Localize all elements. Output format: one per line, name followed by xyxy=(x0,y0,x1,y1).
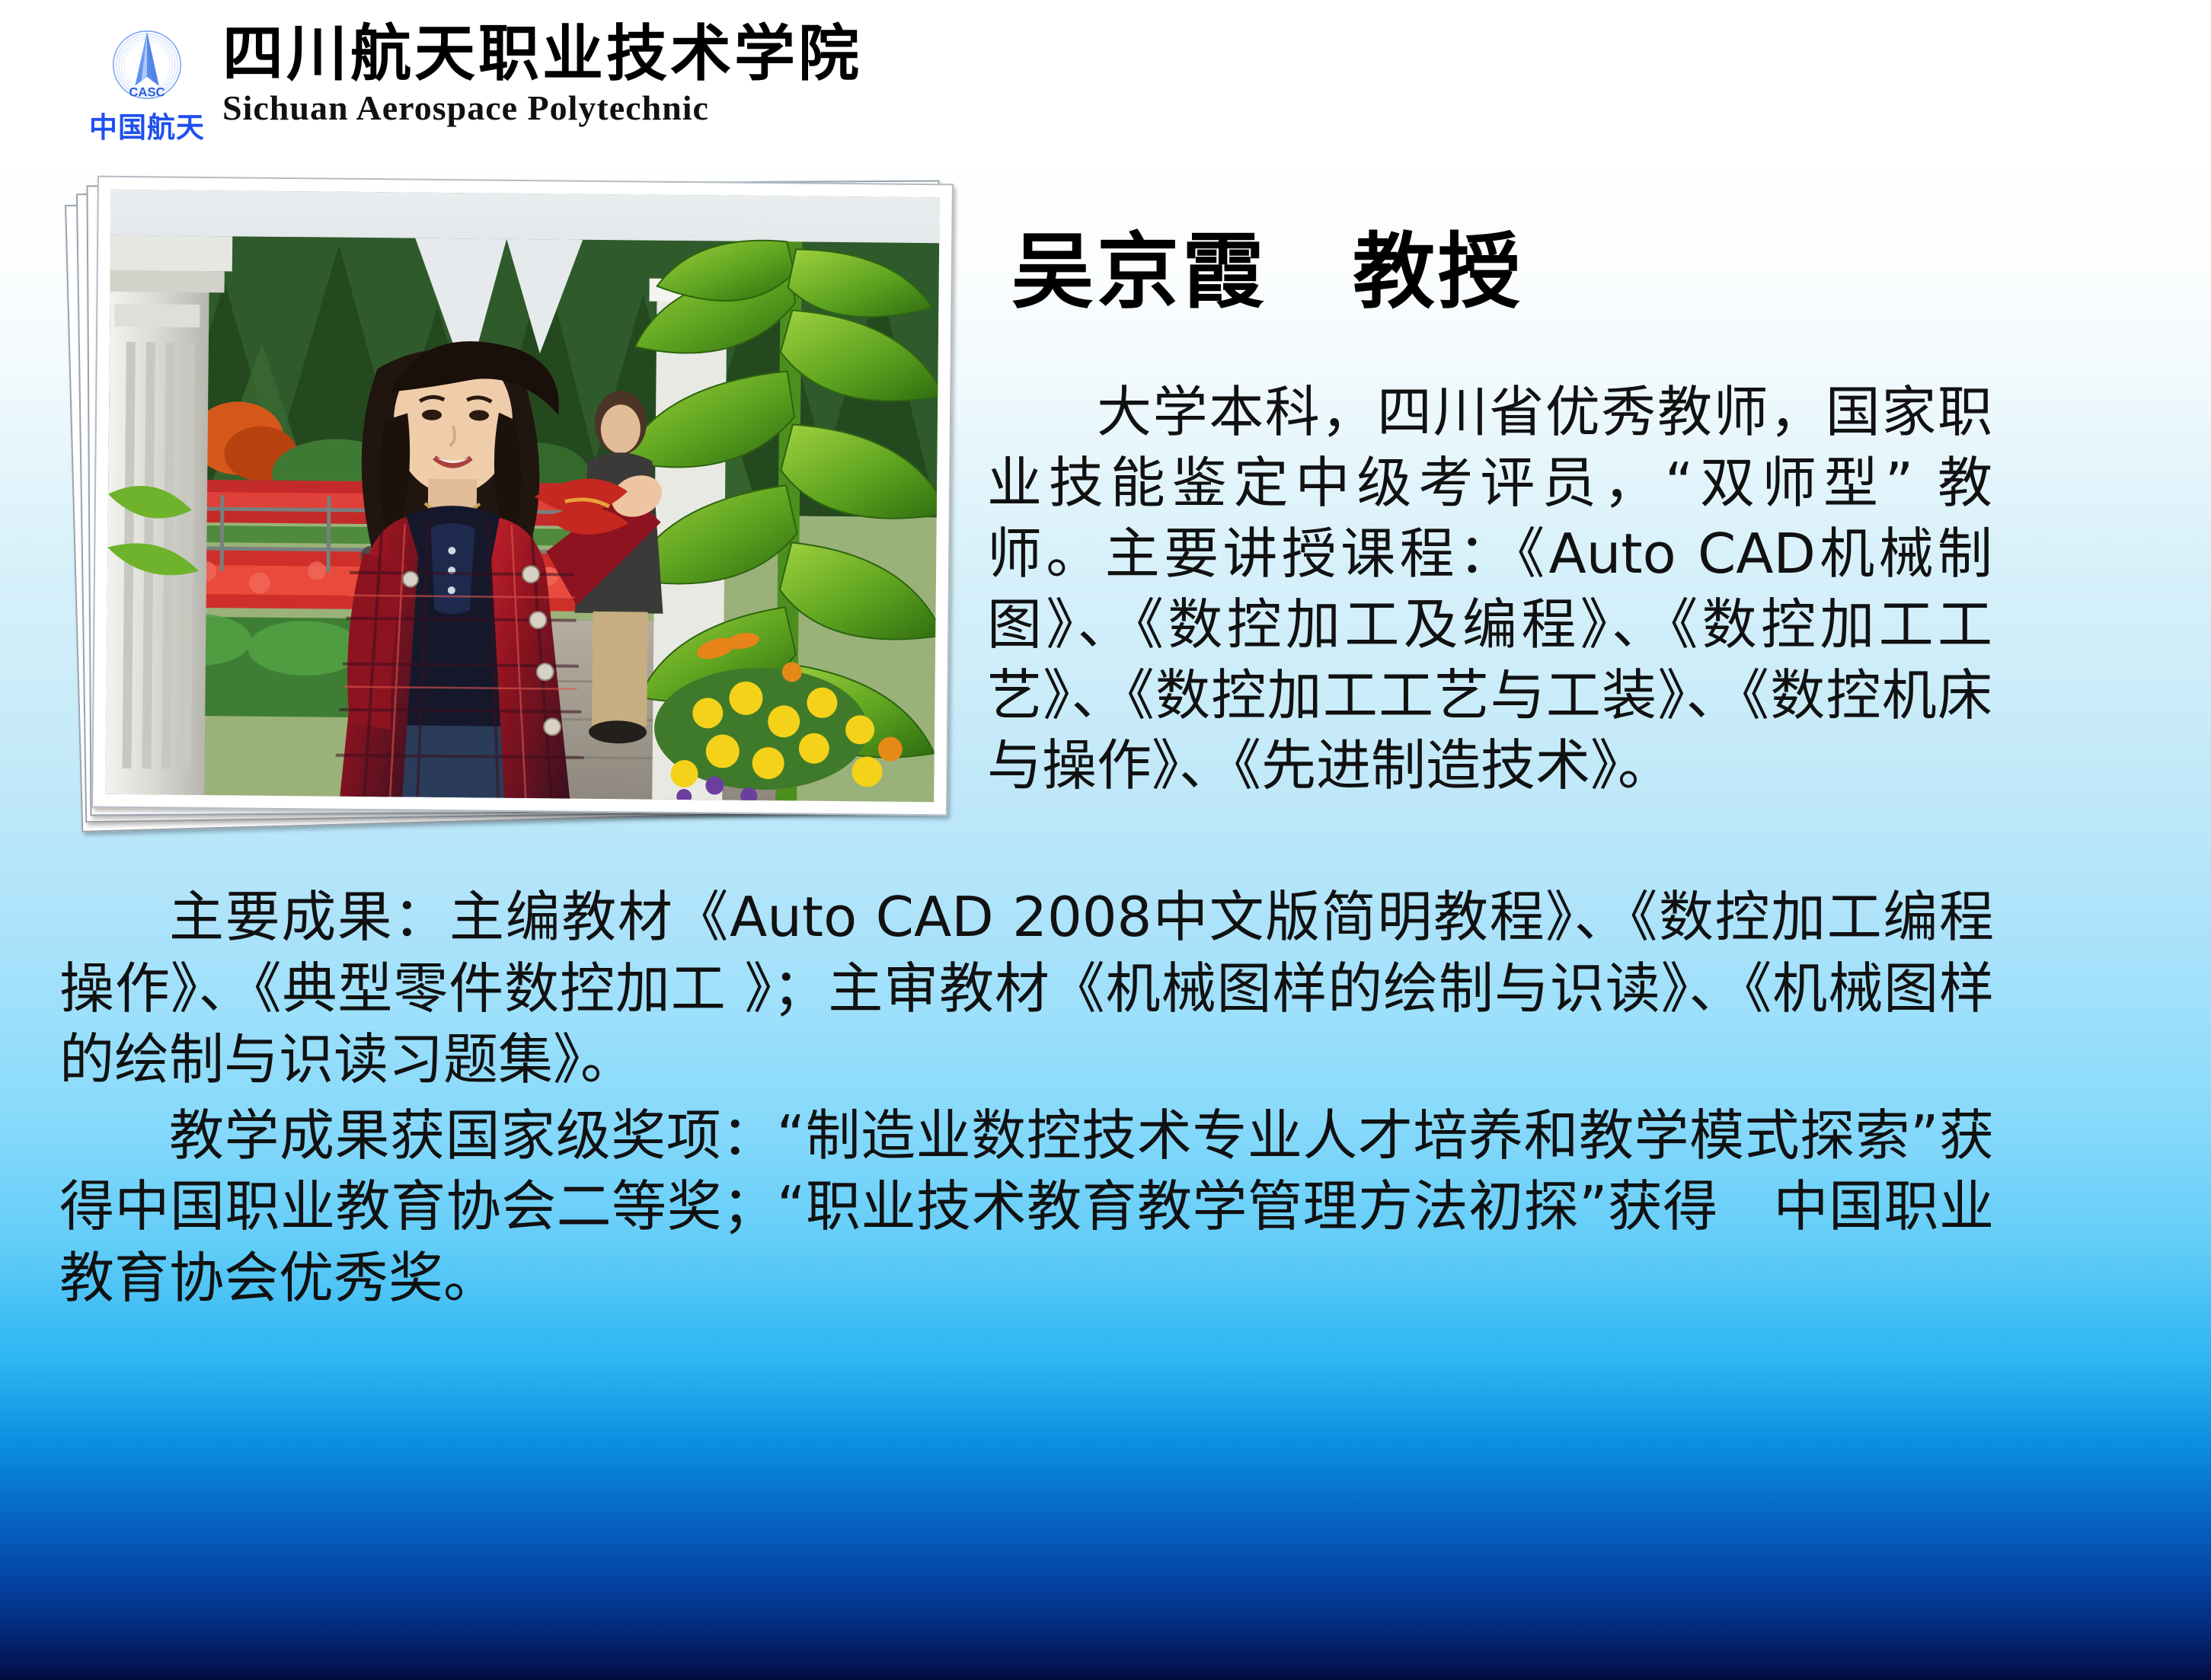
achievements-awards-paragraph: 教学成果获国家级奖项：“制造业数控技术专业人才培养和教学模式探索”获得中国职业教… xyxy=(59,1100,1994,1314)
institution-logo-lockup: CASC 中国航天 四川航天职业技术学院 Sichuan Aerospace P… xyxy=(90,20,862,148)
institution-name-en: Sichuan Aerospace Polytechnic xyxy=(222,88,862,129)
portrait-photo xyxy=(105,190,940,802)
institution-name-cn: 四川航天职业技术学院 xyxy=(222,23,862,85)
professor-name-title: 吴京霞 教授 xyxy=(1011,228,1523,318)
casc-caption-label: 中国航天 xyxy=(89,113,205,142)
portrait-photo-stack xyxy=(55,180,954,842)
casc-logo-mark: CASC 中国航天 xyxy=(90,20,204,148)
institution-wordmark: 四川航天职业技术学院 Sichuan Aerospace Polytechnic xyxy=(222,23,862,128)
photo-frame-layer-1 xyxy=(91,176,954,816)
achievements-block: 主要成果：主编教材《Auto CAD 2008中文版简明教程》、《数控加工编程操… xyxy=(59,882,1994,1314)
achievements-publications-paragraph: 主要成果：主编教材《Auto CAD 2008中文版简明教程》、《数控加工编程操… xyxy=(59,882,1994,1096)
casc-acronym-text: CASC xyxy=(129,85,165,99)
slide-canvas: CASC 中国航天 四川航天职业技术学院 Sichuan Aerospace P… xyxy=(0,0,2211,1680)
casc-rocket-emblem-icon: CASC xyxy=(102,21,192,111)
professor-bio-paragraph: 大学本科，四川省优秀教师，国家职业技能鉴定中级考评员，“双师型” 教师。主要讲授… xyxy=(987,377,1992,801)
